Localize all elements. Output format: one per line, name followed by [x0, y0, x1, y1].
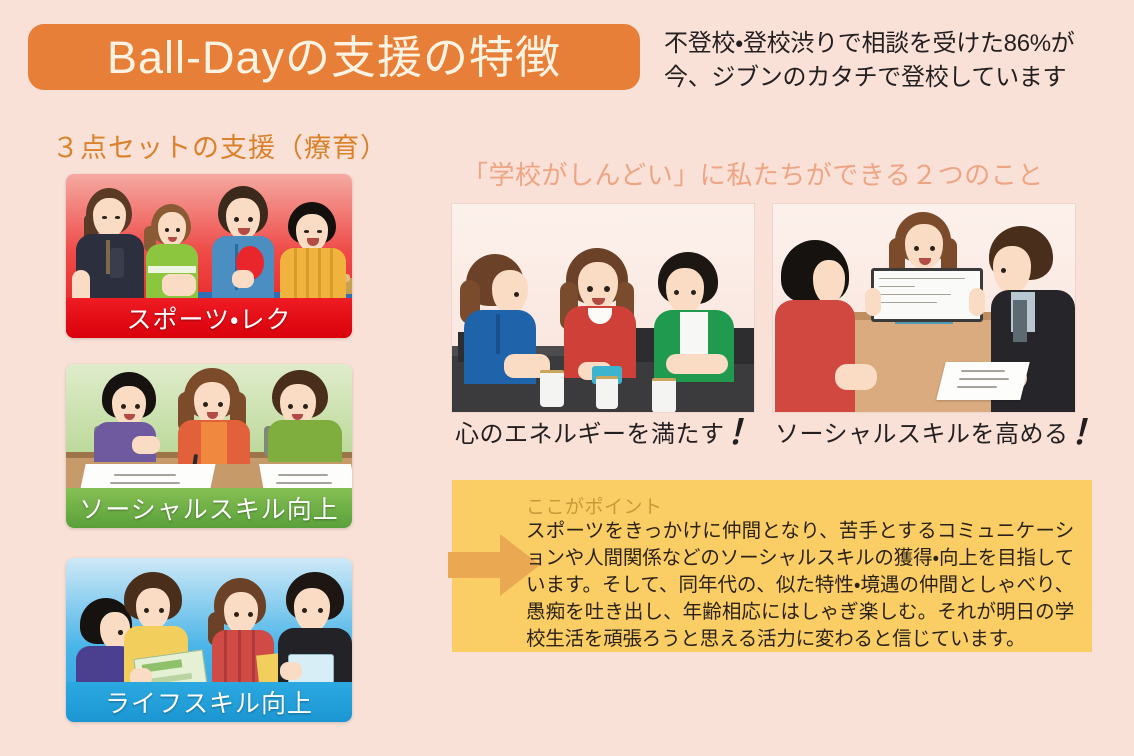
- card-life-skill: ライフスキル向上: [66, 558, 352, 722]
- caption-energy-exclamation: ！: [727, 417, 762, 449]
- title-banner: Ball-Dayの支援の特徴: [28, 24, 640, 90]
- point-body-text: スポーツをきっかけに仲間となり、苦手とするコミュニケーションや人間関係などのソー…: [526, 518, 1074, 653]
- caption-social-skill-exclamation: ！: [1071, 417, 1106, 449]
- page-title: Ball-Dayの支援の特徴: [107, 35, 561, 80]
- headline-line-2: 今、ジブンのカタチで登校しています: [664, 61, 1114, 95]
- card-label-sports: スポーツ・レク: [66, 298, 352, 338]
- headline-line-1: 不登校・登校渋りで相談を受けた86%が: [664, 27, 1114, 61]
- point-heading: ここがポイント: [526, 492, 663, 519]
- caption-energy: 心のエネルギーを満たす ！: [455, 414, 761, 449]
- card-label-social-skill: ソーシャルスキル向上: [66, 488, 352, 528]
- card-label-life-skill: ライフスキル向上: [66, 682, 352, 722]
- point-callout-box: ここがポイント スポーツをきっかけに仲間となり、苦手とするコミュニケーションや人…: [452, 480, 1092, 652]
- card-social-skill: ソーシャルスキル向上: [66, 364, 352, 528]
- talking-over-drinks-illustration: [452, 204, 754, 412]
- left-section-heading: ３点セットの支援（療育）: [52, 126, 388, 165]
- right-section-heading: 「学校がしんどい」に私たちができる２つのこと: [462, 155, 1044, 192]
- card-sports-recreation: スポーツ・レク: [66, 174, 352, 338]
- caption-social-skill: ソーシャルスキルを高める ！: [775, 414, 1105, 449]
- infographic-page: Ball-Dayの支援の特徴 不登校・登校渋りで相談を受けた86%が 今、ジブン…: [0, 0, 1134, 756]
- caption-social-skill-text: ソーシャルスキルを高める: [775, 414, 1069, 449]
- headline-text: 不登校・登校渋りで相談を受けた86%が 今、ジブンのカタチで登校しています: [664, 27, 1114, 95]
- whiteboard-session-illustration: [773, 204, 1075, 412]
- caption-energy-text: 心のエネルギーを満たす: [455, 414, 725, 449]
